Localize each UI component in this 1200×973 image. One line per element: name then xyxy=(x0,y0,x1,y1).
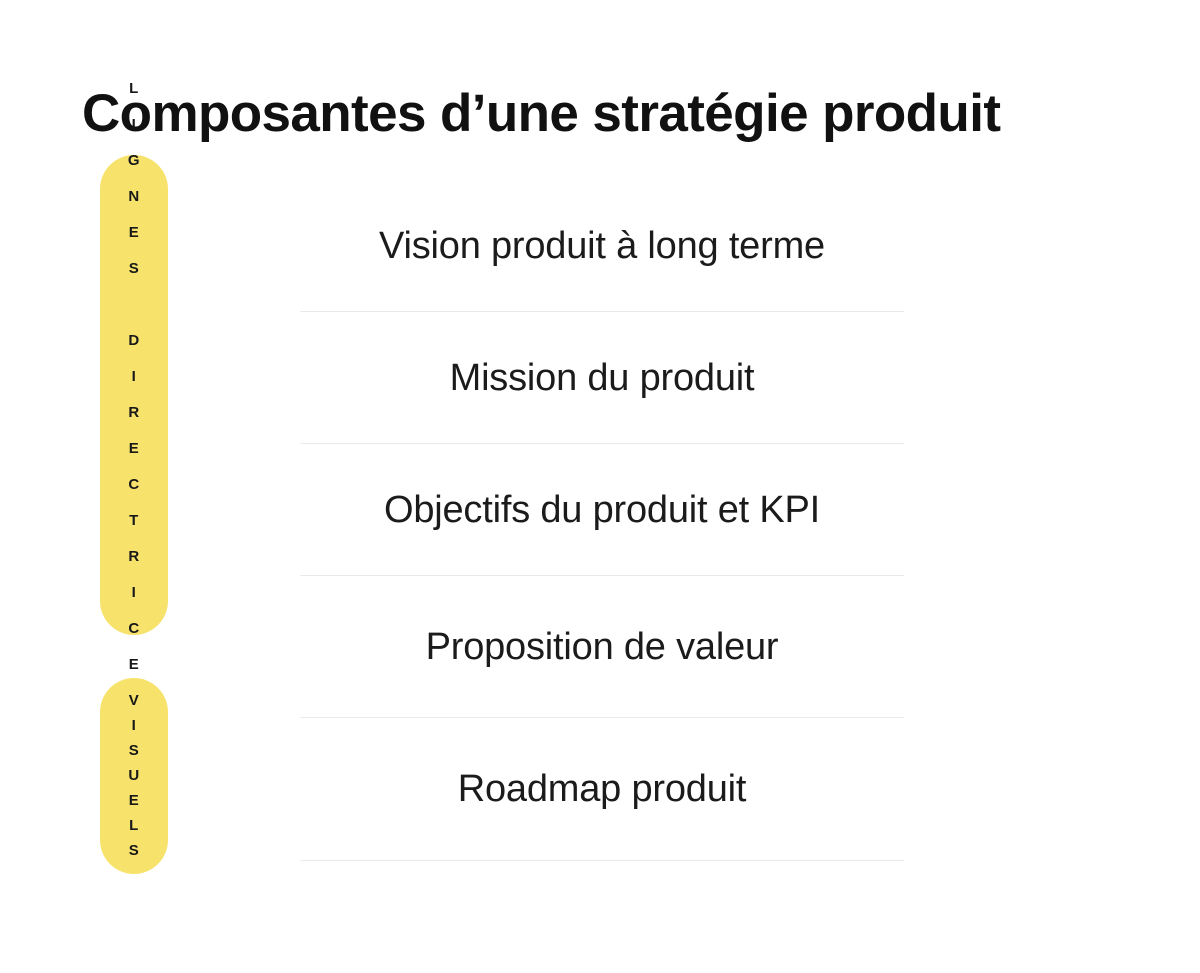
component-label: Objectifs du produit et KPI xyxy=(384,487,820,533)
component-label: Proposition de valeur xyxy=(426,624,779,670)
pill-letter: S xyxy=(129,843,140,858)
pill-letter: T xyxy=(129,513,139,528)
pill-letter: V xyxy=(129,693,140,708)
category-pill-visuels: V I S U E L S xyxy=(100,678,168,874)
pill-letter: R xyxy=(128,549,139,564)
list-item[interactable]: Objectifs du produit et KPI xyxy=(300,444,904,576)
pill-letter: L xyxy=(129,818,139,833)
pill-letter: C xyxy=(128,621,139,636)
pill-letter: R xyxy=(128,405,139,420)
pill-letter: I xyxy=(132,585,137,600)
pill-letter: G xyxy=(128,153,140,168)
pill-letter: S xyxy=(129,261,140,276)
category-pill-lignes-directrices: L I G N E S D I R E C T R I C E S xyxy=(100,155,168,635)
pill-letter: I xyxy=(132,369,137,384)
component-label: Roadmap produit xyxy=(458,766,747,812)
pill-letter: E xyxy=(129,657,140,672)
pill-letter: N xyxy=(128,189,139,204)
list-item[interactable]: Vision produit à long terme xyxy=(300,180,904,312)
pill-letter: S xyxy=(129,743,140,758)
pill-letter: E xyxy=(129,441,140,456)
pill-letter: L xyxy=(129,81,139,96)
list-item[interactable]: Proposition de valeur xyxy=(300,576,904,718)
component-label: Mission du produit xyxy=(450,355,755,401)
component-list: Vision produit à long terme Mission du p… xyxy=(300,180,904,861)
pill-letter: E xyxy=(129,793,140,808)
slide-canvas: Composantes d’une stratégie produit L I … xyxy=(0,0,1200,973)
pill-letter: C xyxy=(128,477,139,492)
pill-letter: I xyxy=(132,117,137,132)
pill-letter: D xyxy=(128,333,139,348)
list-item[interactable]: Roadmap produit xyxy=(300,718,904,861)
pill-letter: E xyxy=(129,225,140,240)
list-item[interactable]: Mission du produit xyxy=(300,312,904,444)
component-label: Vision produit à long terme xyxy=(379,223,825,269)
pill-letter: U xyxy=(128,768,139,783)
pill-letter: I xyxy=(132,718,137,733)
page-title: Composantes d’une stratégie produit xyxy=(82,82,1142,146)
